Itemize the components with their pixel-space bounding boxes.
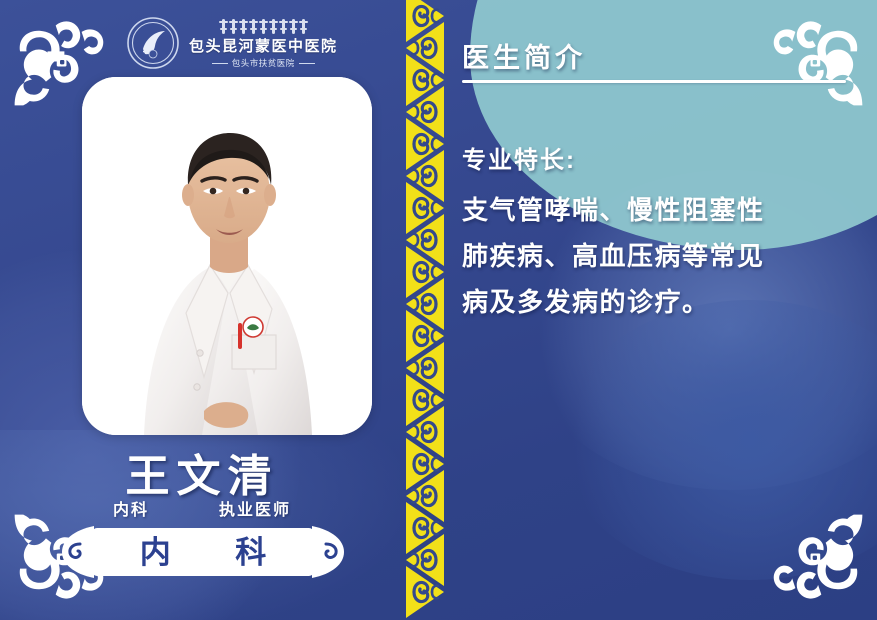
hospital-logo: 包头昆河蒙医中医院 包头市扶贫医院 (126, 16, 338, 70)
department-badge: 内 科 (92, 528, 314, 576)
specialty-line-3: 病及多发病的诊疗。 (462, 279, 854, 325)
corner-ornament-top-right (763, 6, 871, 114)
divider-ornament-band (404, 0, 446, 620)
specialty-line-1: 支气管哮喘、慢性阻塞性 (462, 187, 854, 233)
section-divider-rule (462, 80, 846, 83)
doctor-photo (82, 77, 372, 435)
hospital-emblem-icon (126, 16, 180, 70)
hospital-subtitle-text: 包头市扶贫医院 (232, 57, 295, 69)
doctor-profile-card: 包头昆河蒙医中医院 包头市扶贫医院 (0, 0, 877, 620)
doctor-name: 王文清 (0, 440, 404, 504)
mongolian-script-line (222, 19, 305, 34)
plaque-scroll-end-left-icon (60, 524, 96, 580)
corner-ornament-bottom-right (763, 506, 871, 614)
hospital-name: 包头昆河蒙医中医院 (189, 35, 338, 56)
doctor-department: 内科 (113, 496, 149, 520)
department-badge-label: 内 科 (112, 537, 295, 568)
plaque-scroll-end-right-icon (310, 524, 346, 580)
specialty-label: 专业特长: (462, 140, 854, 175)
hospital-subtitle: 包头市扶贫医院 (212, 57, 315, 69)
section-title: 医生简介 (462, 36, 586, 75)
doctor-meta: 内科 执业医师 (0, 496, 404, 520)
profile-body: 专业特长: 支气管哮喘、慢性阻塞性 肺疾病、高血压病等常见 病及多发病的诊疗。 (462, 140, 854, 325)
doctor-title: 执业医师 (219, 496, 291, 520)
specialty-line-2: 肺疾病、高血压病等常见 (462, 233, 854, 279)
